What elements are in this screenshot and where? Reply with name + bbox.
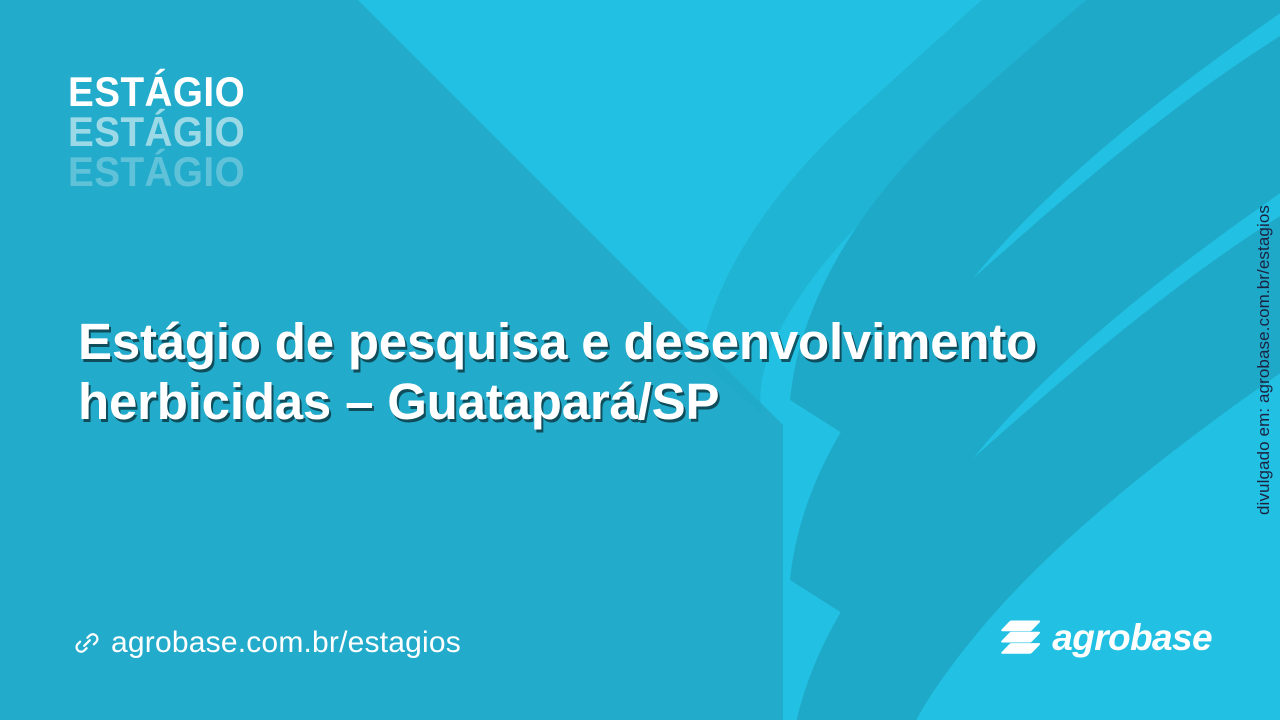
estagio-badge-stack: ESTÁGIO ESTÁGIO ESTÁGIO [68,72,388,192]
footer-link-text: agrobase.com.br/estagios [111,628,461,658]
footer-link[interactable]: agrobase.com.br/estagios [74,628,461,658]
page-title: Estágio de pesquisa e desenvolvimento he… [78,312,1198,432]
vertical-credit: divulgado em: agrobase.com.br/estagios [1247,0,1280,720]
agrobase-logo-mark-icon [997,618,1043,656]
link-chain-icon [74,630,100,656]
vertical-credit-text: divulgado em: agrobase.com.br/estagios [1254,205,1274,515]
brand-logo: agrobase [997,618,1212,656]
estagio-badge-line-2: ESTÁGIO [68,112,362,152]
estagio-badge-line-3: ESTÁGIO [68,152,362,192]
brand-wordmark: agrobase [1052,619,1212,656]
estagio-badge-line-1: ESTÁGIO [68,72,362,112]
